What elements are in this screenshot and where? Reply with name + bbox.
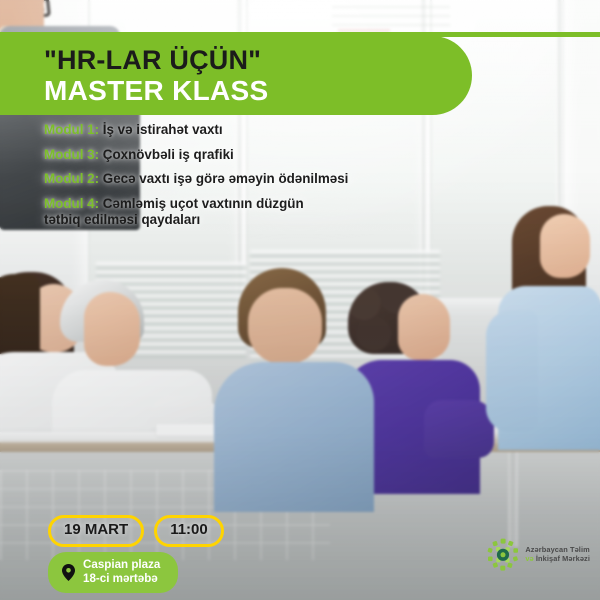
poster: "HR-LAR ÜÇÜN" MASTER KLASS Modul 1: İş v… [0, 0, 600, 600]
date-badge: 19 MART [48, 515, 144, 547]
venue-line1: Caspian plaza [83, 558, 160, 572]
event-badges: 19 MART 11:00 [48, 515, 224, 547]
module-label: Modul 3: [44, 147, 99, 162]
logo-line2-main: İnkişaf Mərkəzi [536, 554, 590, 563]
logo-line2-prefix: və [525, 554, 533, 563]
time-badge: 11:00 [154, 515, 224, 547]
module-item: Modul 2: Gecə vaxtı işə görə əməyin ödən… [44, 171, 464, 187]
venue-line2: 18-ci mərtəbə [83, 572, 160, 586]
module-label: Modul 1: [44, 122, 99, 137]
page-title-line2: MASTER KLASS [44, 76, 472, 105]
module-label: Modul 4: [44, 196, 99, 211]
flower-sunburst-logo-icon [486, 538, 520, 572]
module-text: Cəmləmiş uçot vaxtının düzgün [103, 196, 304, 211]
page-title-line1: "HR-LAR ÜÇÜN" [44, 46, 472, 74]
organization-logo: Azərbaycan Təlim və İnkişaf Mərkəzi [486, 538, 590, 572]
venue-text: Caspian plaza 18-ci mərtəbə [83, 558, 160, 586]
title-banner: "HR-LAR ÜÇÜN" MASTER KLASS [0, 36, 472, 115]
module-item: Modul 1: İş və istirahət vaxtı [44, 122, 464, 138]
map-pin-icon [62, 564, 75, 581]
logo-text: Azərbaycan Təlim və İnkişaf Mərkəzi [525, 546, 590, 563]
module-item: Modul 3: Çoxnövbəli iş qrafiki [44, 147, 464, 163]
logo-line2: və İnkişaf Mərkəzi [525, 555, 590, 564]
venue-pill: Caspian plaza 18-ci mərtəbə [48, 552, 178, 593]
module-item: Modul 4: Cəmləmiş uçot vaxtının düzgün t… [44, 196, 464, 227]
module-text: Çoxnövbəli iş qrafiki [103, 147, 234, 162]
module-text-line2: tətbiq edilməsi qaydaları [44, 212, 464, 228]
module-label: Modul 2: [44, 171, 99, 186]
module-list: Modul 1: İş və istirahət vaxtı Modul 3: … [44, 122, 464, 233]
module-text: Gecə vaxtı işə görə əməyin ödənilməsi [103, 171, 349, 186]
module-text: İş və istirahət vaxtı [103, 122, 223, 137]
